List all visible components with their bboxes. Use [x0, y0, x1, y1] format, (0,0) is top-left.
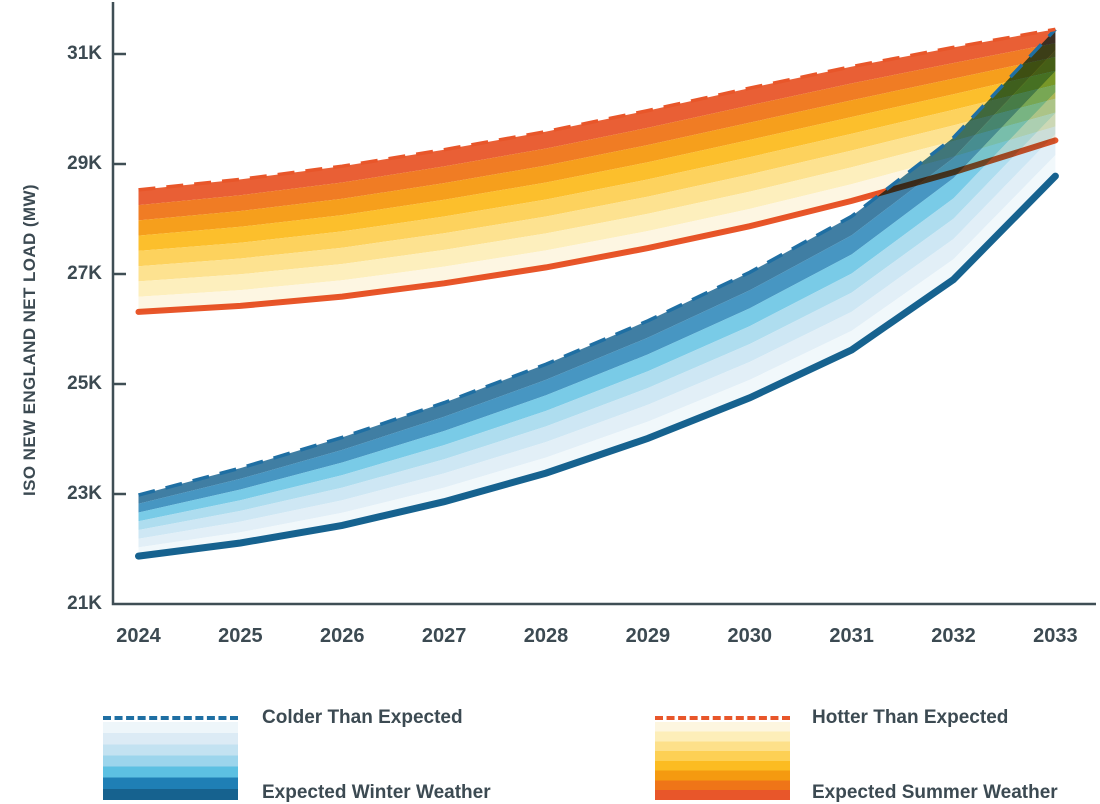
legend-label-colder: Colder Than Expected [262, 707, 463, 729]
legend-label-hotter: Hotter Than Expected [812, 707, 1008, 729]
legend-hotter-dash [655, 716, 790, 720]
legend-summer-swatch [655, 722, 790, 800]
legend-colder-dash [103, 716, 238, 720]
legend-label-winter: Expected Winter Weather [262, 782, 491, 804]
net-load-forecast-chart: ISO NEW ENGLAND NET LOAD (MW) 21K23K25K2… [0, 0, 1100, 803]
legend-label-summer: Expected Summer Weather [812, 782, 1058, 804]
legend-winter-swatch [103, 722, 238, 800]
plot-area [0, 0, 1100, 803]
